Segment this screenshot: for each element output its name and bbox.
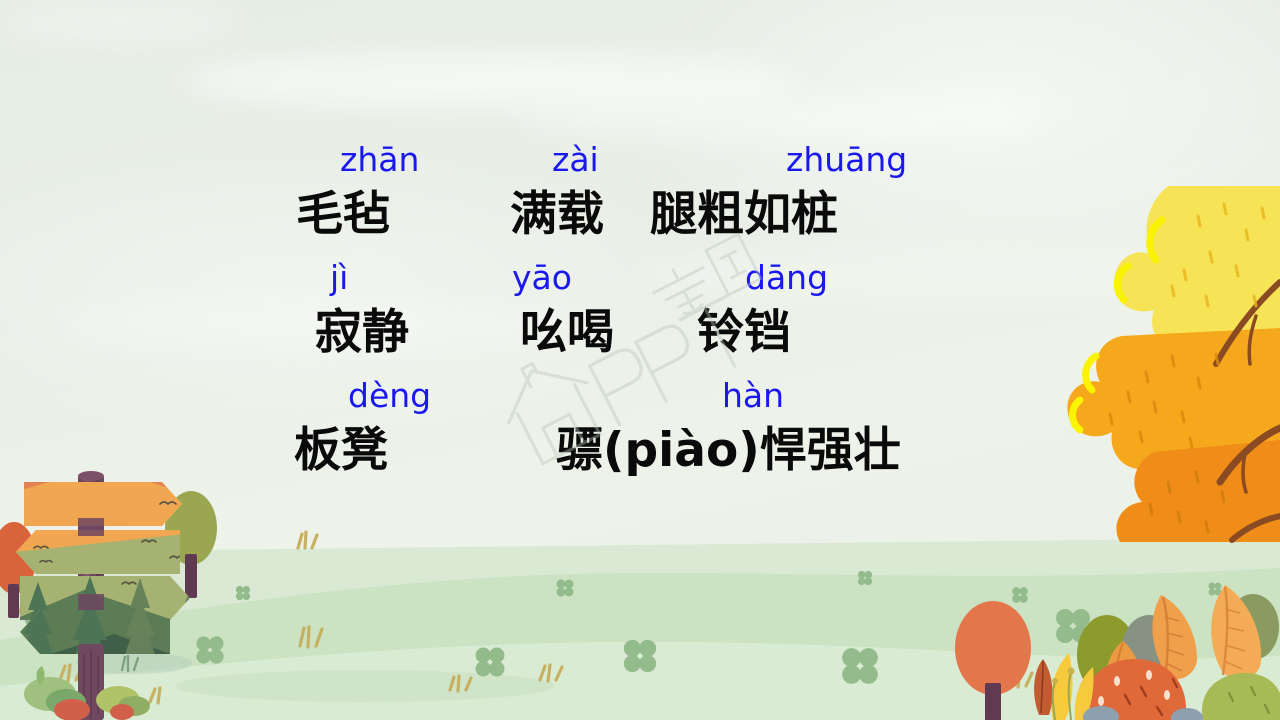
pinyin-zhuang: zhuāng bbox=[786, 140, 907, 180]
pinyin-deng: dèng bbox=[348, 376, 431, 416]
word-tuicuruzhuang: 腿粗如桩 bbox=[650, 186, 838, 244]
ground-hills bbox=[0, 490, 1280, 720]
pinyin-han: hàn bbox=[722, 376, 784, 416]
hanzi-line: 毛毡 满载 腿粗如桩 bbox=[0, 186, 1280, 248]
word-bandeng: 板凳 bbox=[294, 422, 388, 480]
slide-canvas: zhān zài zhuāng 毛毡 满载 腿粗如桩 jì yāo dāng 寂… bbox=[0, 0, 1280, 720]
vocab-row: zhān zài zhuāng 毛毡 满载 腿粗如桩 bbox=[0, 140, 1280, 258]
pinyin-zhan: zhān bbox=[340, 140, 419, 180]
word-yaohe: 吆喝 bbox=[520, 304, 614, 362]
word-piaohanqiangzhuang: 骠(piào)悍强壮 bbox=[556, 422, 901, 480]
vocabulary-list: zhān zài zhuāng 毛毡 满载 腿粗如桩 jì yāo dāng 寂… bbox=[0, 140, 1280, 494]
pinyin-line: dèng hàn bbox=[0, 376, 1280, 422]
word-manzai: 满载 bbox=[510, 186, 604, 244]
hanzi-line: 寂静 吆喝 铃铛 bbox=[0, 304, 1280, 366]
word-maozhan: 毛毡 bbox=[296, 186, 390, 244]
word-lingdang: 铃铛 bbox=[697, 304, 791, 362]
vocab-row: jì yāo dāng 寂静 吆喝 铃铛 bbox=[0, 258, 1280, 376]
cloud-wisp bbox=[180, 52, 800, 110]
pinyin-line: jì yāo dāng bbox=[0, 258, 1280, 304]
word-jijing: 寂静 bbox=[315, 304, 409, 362]
pinyin-zai: zài bbox=[552, 140, 599, 180]
vocab-row: dèng hàn 板凳 骠(piào)悍强壮 bbox=[0, 376, 1280, 494]
pinyin-dang: dāng bbox=[745, 258, 828, 298]
cloud-wisp bbox=[520, 96, 1040, 140]
pinyin-yao: yāo bbox=[512, 258, 572, 298]
hanzi-line: 板凳 骠(piào)悍强壮 bbox=[0, 422, 1280, 484]
cloud-wisp bbox=[0, 0, 240, 46]
pinyin-line: zhān zài zhuāng bbox=[0, 140, 1280, 186]
pinyin-ji: jì bbox=[330, 258, 348, 298]
